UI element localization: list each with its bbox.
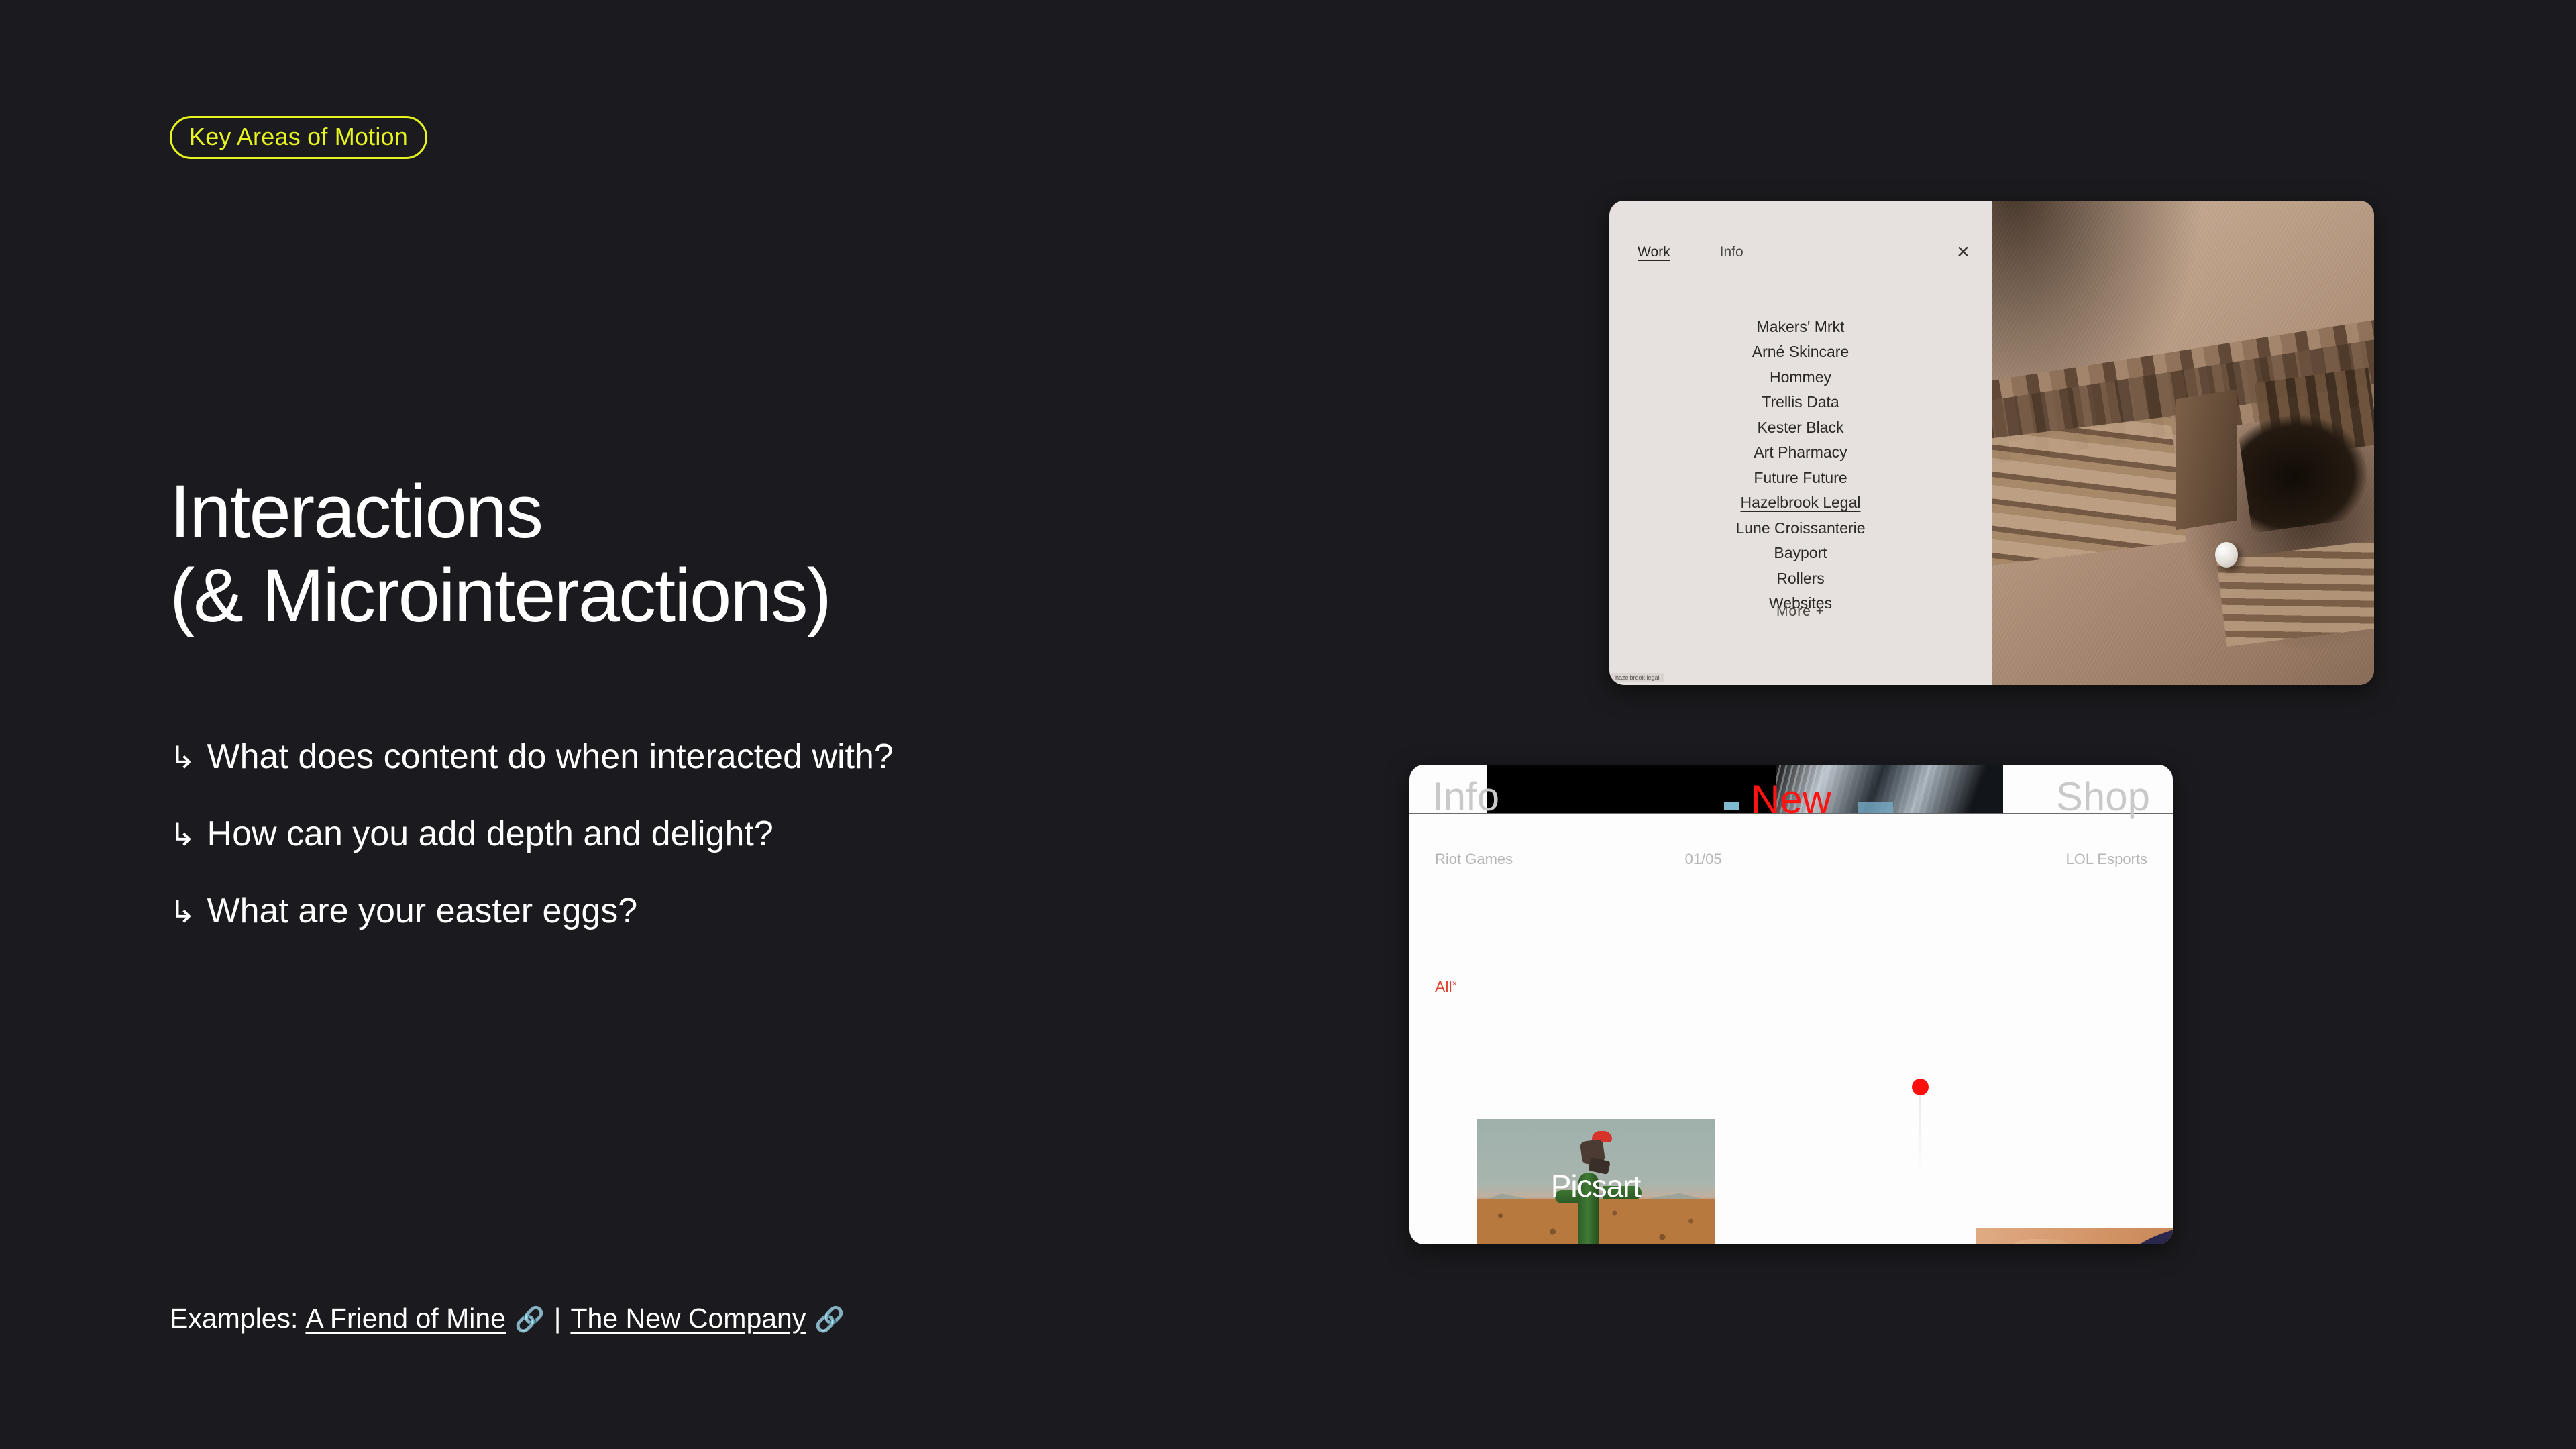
list-item: ↳ What does content do when interacted w… [170, 739, 894, 774]
examples-separator: | [554, 1302, 561, 1335]
afom-menu-panel: Work Info ✕ Makers' Mrkt Arné Skincare H… [1609, 201, 1992, 685]
section-badge: Key Areas of Motion [170, 116, 427, 159]
filter-all-sup: × [1452, 978, 1458, 988]
arrow-down-right-icon: ↳ [170, 896, 196, 927]
question-list: ↳ What does content do when interacted w… [170, 739, 894, 971]
page-title-line-2: (& Microinteractions) [170, 553, 830, 637]
list-item[interactable]: Arné Skincare [1609, 339, 1992, 364]
list-item[interactable]: Hommey [1609, 365, 1992, 390]
close-icon[interactable]: ✕ [1956, 242, 1970, 262]
meta-counter: 01/05 [1685, 851, 1722, 868]
list-item[interactable]: Art Pharmacy [1609, 440, 1992, 465]
tab-info[interactable]: Info [1720, 244, 1743, 260]
more-button[interactable]: More + [1609, 604, 1992, 620]
meta-project: LOL Esports [2066, 851, 2147, 868]
list-item[interactable]: Future Future [1609, 466, 1992, 490]
slide-root: Key Areas of Motion Interactions (& Micr… [0, 0, 2576, 1449]
banner-accent [1724, 802, 1739, 810]
list-item[interactable]: Trellis Data [1609, 390, 1992, 415]
afom-hero-image [1992, 201, 2374, 685]
examples-label: Examples: [170, 1302, 298, 1335]
list-item[interactable]: Bayport [1609, 541, 1992, 566]
list-item-label: What are your easter eggs? [207, 894, 638, 928]
afom-client-list: Makers' Mrkt Arné Skincare Hommey Trelli… [1609, 315, 1992, 616]
example-link-a-friend-of-mine[interactable]: A Friend of Mine [305, 1302, 506, 1335]
center-wall [2176, 390, 2237, 530]
list-item[interactable]: Kester Black [1609, 415, 1992, 440]
tnc-meta-row: Riot Games 01/05 LOL Esports [1435, 851, 2147, 868]
list-item-label: What does content do when interacted wit… [207, 739, 894, 774]
list-item: ↳ How can you add depth and delight? [170, 816, 894, 851]
cursor-dot [1912, 1079, 1929, 1095]
dark-pit [2237, 406, 2374, 533]
list-item[interactable]: Lune Croissanterie [1609, 516, 1992, 541]
screenshot-card-the-new-company[interactable]: Info New Shop Riot Games 01/05 LOL Espor… [1409, 765, 2173, 1244]
filter-all[interactable]: All× [1435, 978, 1457, 996]
video-banner [1487, 765, 2003, 814]
tnc-nav-shop[interactable]: Shop [2056, 777, 2150, 817]
afom-nav: Work Info ✕ [1638, 242, 1970, 262]
list-item-active[interactable]: Hazelbrook Legal [1609, 490, 1992, 515]
example-link-the-new-company[interactable]: The New Company [570, 1302, 806, 1335]
filter-all-label: All [1435, 978, 1452, 996]
link-icon: 🔗 [814, 1305, 845, 1334]
banner-accent-2 [1858, 802, 1893, 813]
arrow-down-right-icon: ↳ [170, 819, 196, 850]
tnc-nav-info[interactable]: Info [1432, 777, 1499, 817]
project-thumbnail-picsart[interactable]: Picsart [1477, 1119, 1715, 1244]
person-on-cactus [1574, 1131, 1612, 1173]
stairs-left [1992, 417, 2186, 566]
tab-work[interactable]: Work [1638, 244, 1670, 260]
list-item[interactable]: Makers' Mrkt [1609, 315, 1992, 339]
picsart-wordmark: Picsart [1551, 1171, 1641, 1201]
arrow-down-right-icon: ↳ [170, 742, 196, 773]
cursor-trail [1919, 1095, 1921, 1176]
page-title: Interactions (& Microinteractions) [170, 470, 830, 638]
link-icon: 🔗 [515, 1305, 545, 1334]
meta-client: Riot Games [1435, 851, 1513, 868]
project-thumbnail-portrait[interactable] [1976, 1228, 2173, 1244]
list-item: ↳ What are your easter eggs? [170, 894, 894, 928]
examples-footer: Examples: A Friend of Mine 🔗 | The New C… [170, 1302, 845, 1335]
tnc-nav-new[interactable]: New [1751, 780, 1831, 820]
screenshot-card-a-friend-of-mine[interactable]: Work Info ✕ Makers' Mrkt Arné Skincare H… [1609, 201, 2374, 685]
list-item-label: How can you add depth and delight? [207, 816, 773, 851]
list-item[interactable]: Rollers [1609, 566, 1992, 591]
page-title-line-1: Interactions [170, 470, 830, 553]
status-bar-url: hazelbrook legal [1611, 673, 1664, 682]
